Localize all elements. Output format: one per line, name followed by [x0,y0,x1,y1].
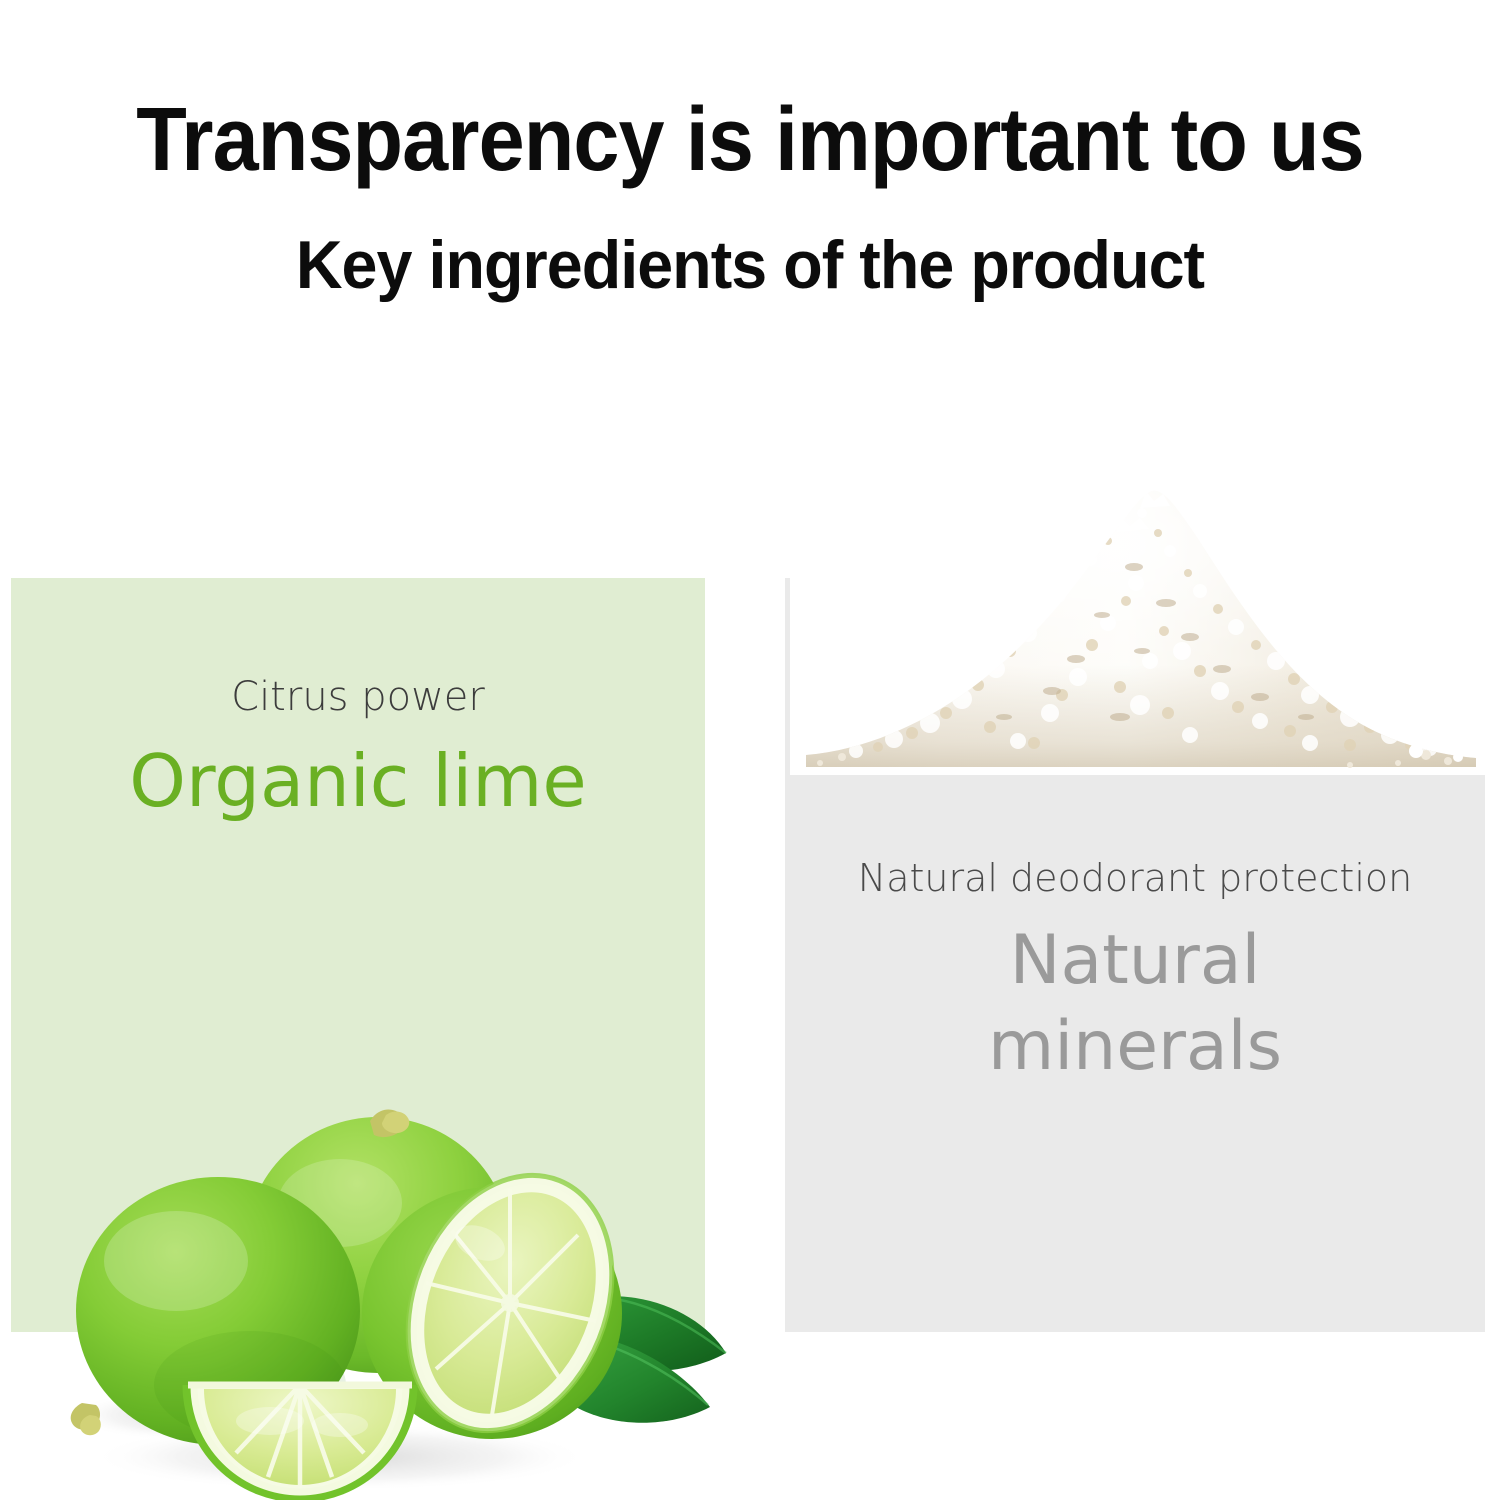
ingredient-name-line-1: Natural [785,918,1485,1004]
organic-lime-image [40,1085,730,1500]
ingredient-eyebrow-organic-lime: Citrus power [0,674,716,720]
infographic-canvas: Transparency is important to us Key ingr… [0,0,1500,1500]
ingredient-name-line-2: minerals [785,1004,1485,1090]
ingredient-name-natural-minerals: Natural minerals [785,918,1485,1090]
mineral-powder-image [790,455,1490,775]
page-subtitle: Key ingredients of the product [38,228,1463,302]
ingredient-eyebrow-natural-minerals: Natural deodorant protection [785,856,1485,900]
ingredient-name-organic-lime: Organic lime [0,738,716,824]
page-title: Transparency is important to us [60,92,1440,188]
